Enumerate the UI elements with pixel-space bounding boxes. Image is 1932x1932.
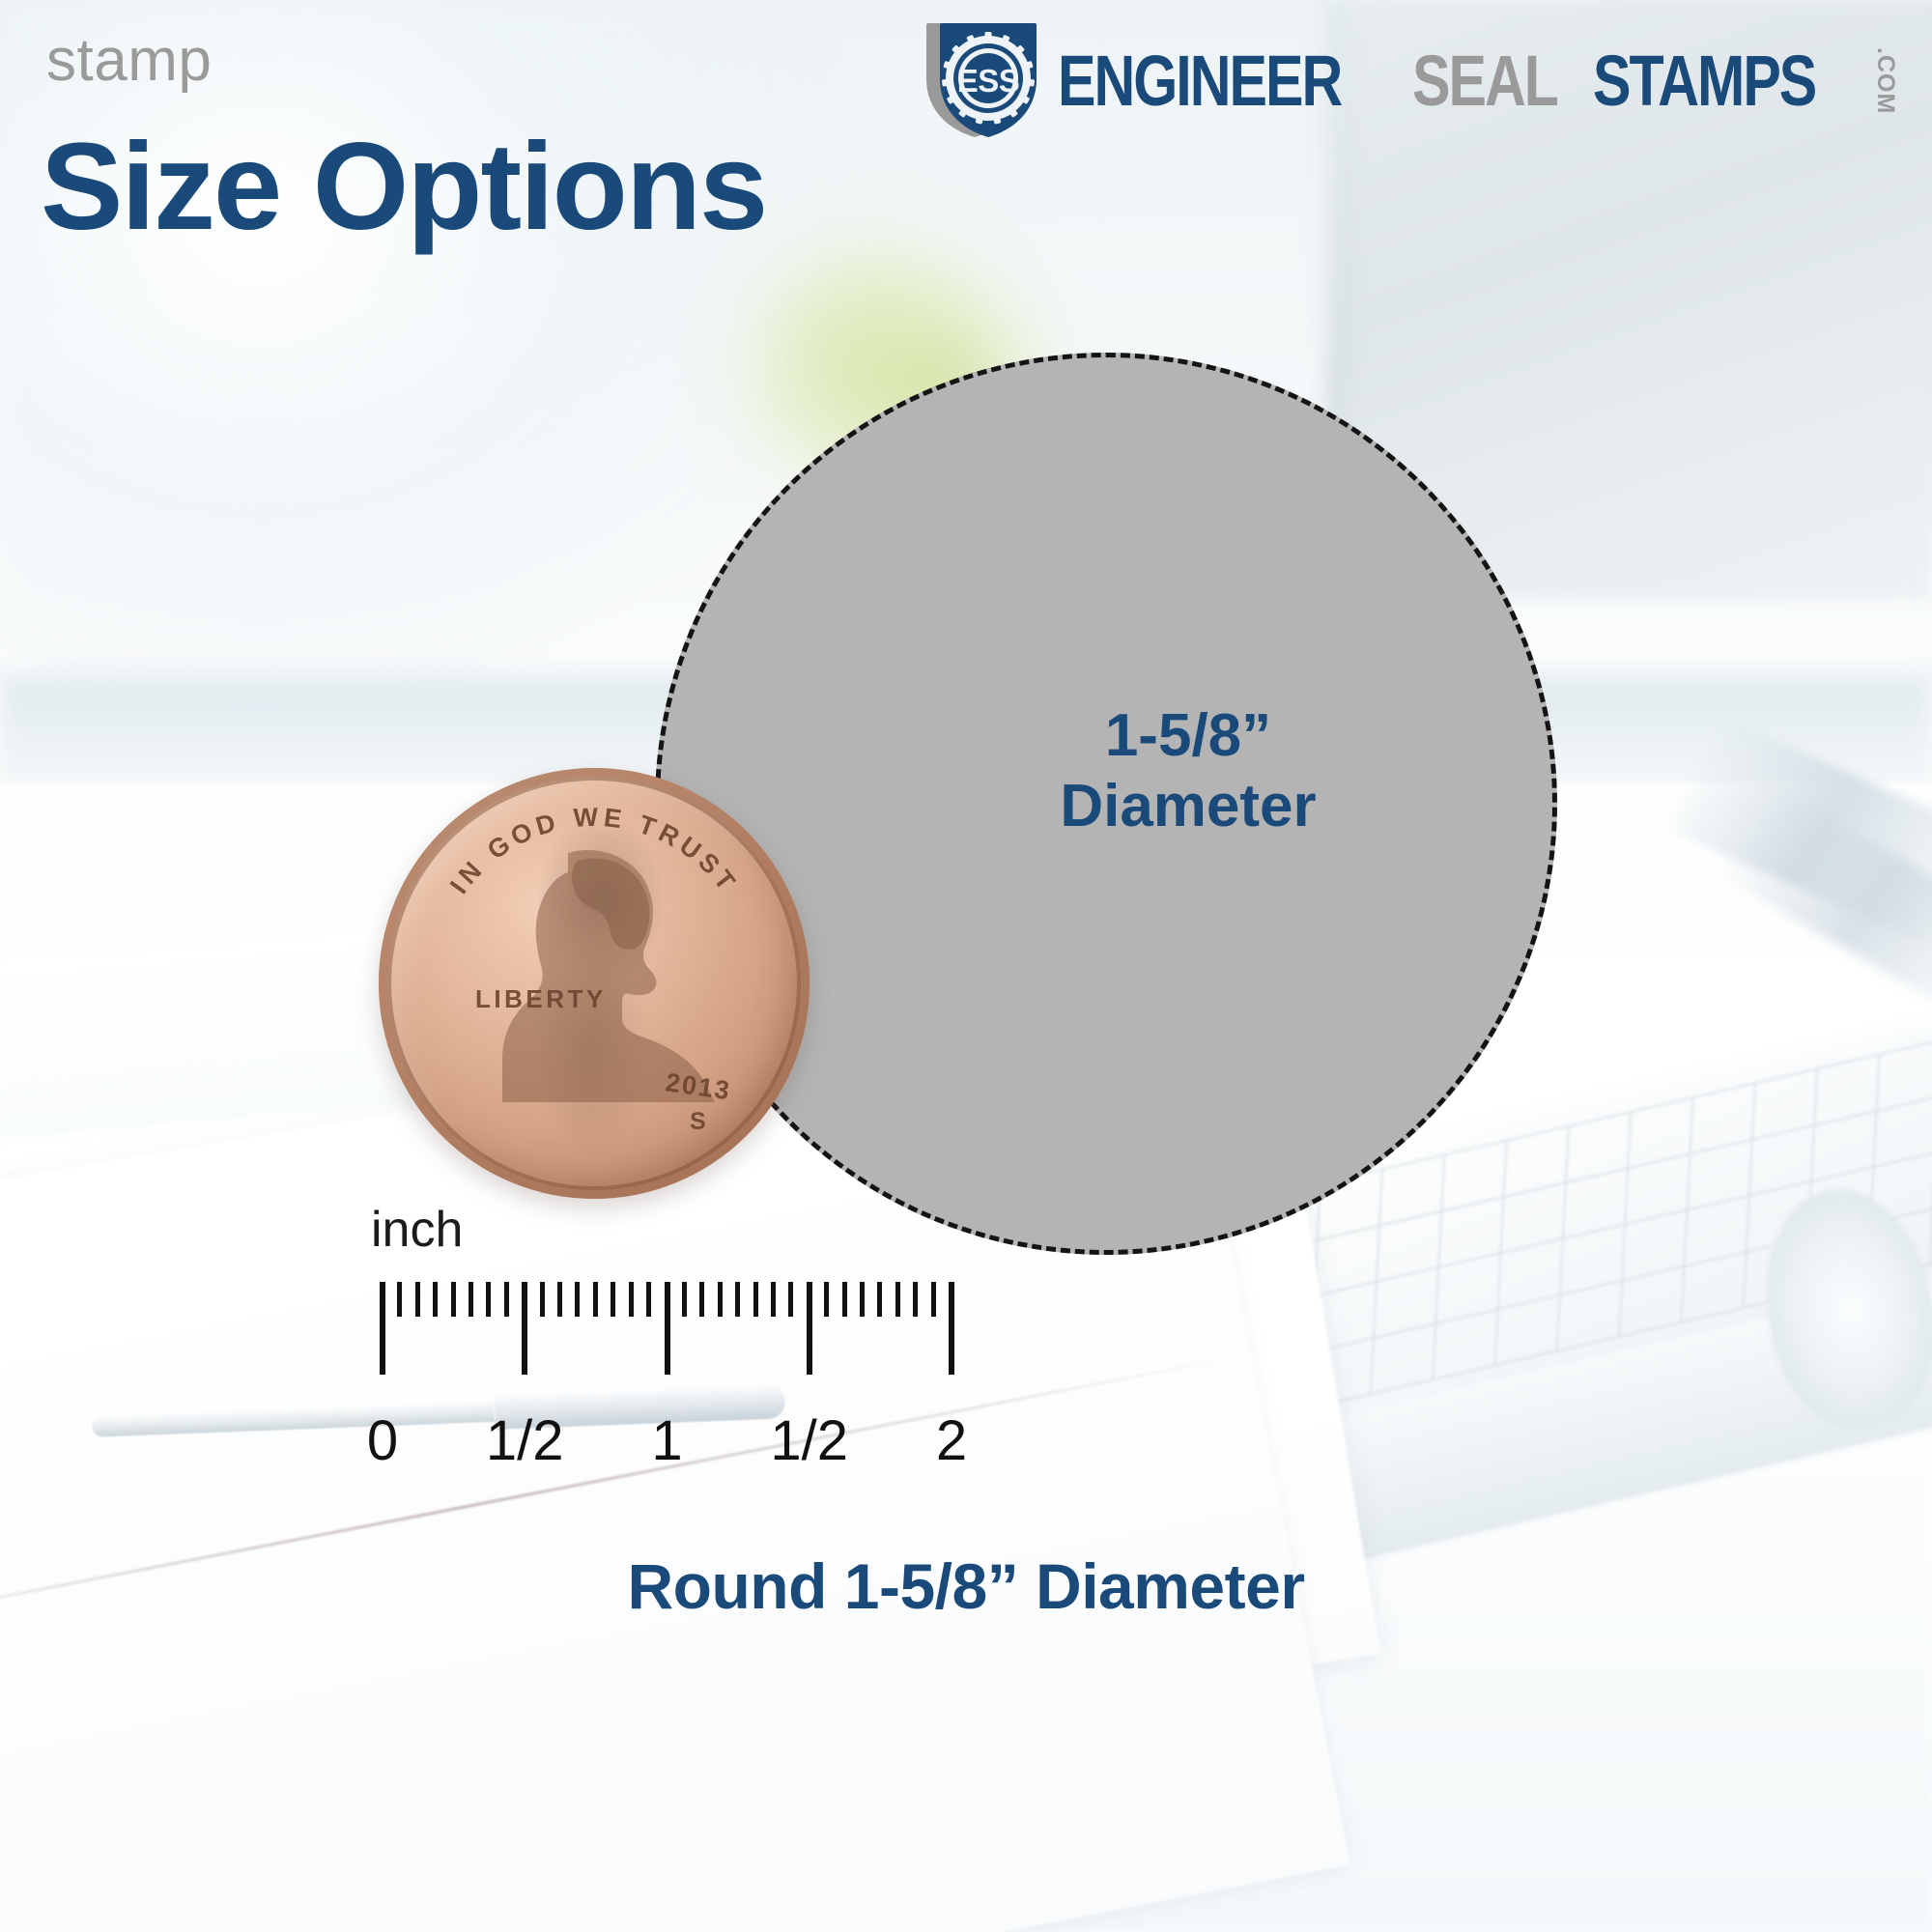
shield-gear-icon: ESS bbox=[919, 17, 1046, 145]
size-caption: Round 1-5/8” Diameter bbox=[0, 1549, 1932, 1623]
penny-reference-coin: IN GOD WE TRUST LIBERTY 2013 S bbox=[379, 768, 810, 1199]
size-options-graphic: stamp Size Options bbox=[0, 0, 1932, 1932]
logo-word-engineer: ENGINEER bbox=[1058, 45, 1341, 117]
penny-liberty: LIBERTY bbox=[475, 984, 607, 1013]
logo-word-seal: SEAL bbox=[1412, 45, 1557, 117]
logo-dotcom-suffix: .COM bbox=[1873, 47, 1897, 114]
logo-word-stamps: STAMPS bbox=[1593, 45, 1815, 117]
stamp-size-value: 1-5/8” bbox=[980, 700, 1396, 771]
page-title: Size Options bbox=[41, 126, 766, 249]
company-logo[interactable]: ESS ENGINEER SEAL STAMPS .COM bbox=[919, 17, 1897, 145]
stamp-size-label: 1-5/8” Diameter bbox=[980, 700, 1396, 841]
stamp-size-unit: Diameter bbox=[980, 771, 1396, 841]
svg-text:ESS: ESS bbox=[957, 63, 1020, 99]
penny-mint-mark: S bbox=[690, 1108, 706, 1135]
brand-label: stamp bbox=[46, 31, 212, 91]
